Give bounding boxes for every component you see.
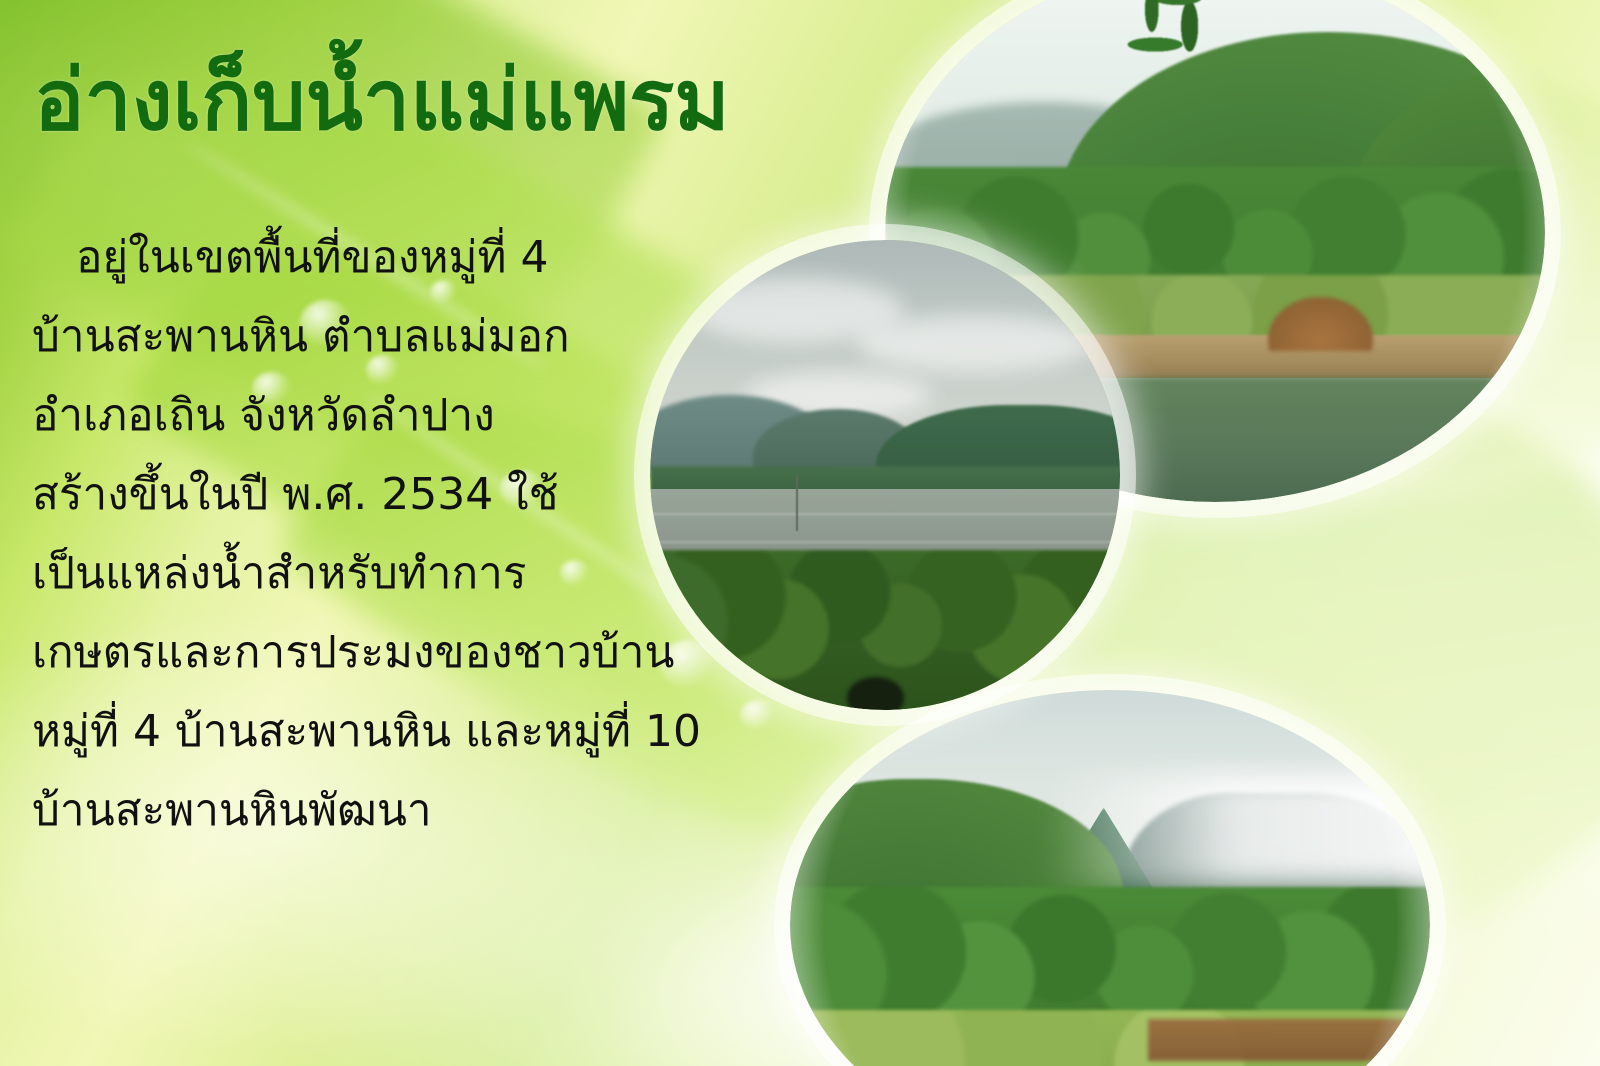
- slide-title: อ่างเก็บน้ำแม่แพรม: [34, 58, 730, 142]
- cloud-2: [857, 315, 1092, 371]
- presentation-slide: อ่างเก็บน้ำแม่แพรม อยู่ในเขตพื้นที่ของหม…: [0, 0, 1600, 1066]
- body-line-6: เกษตรและการประมงของชาวบ้าน: [32, 613, 852, 692]
- body-line-7: หมู่ที่ 4 บ้านสะพานหิน และหมู่ที่ 10: [32, 692, 852, 771]
- body-line-1: อยู่ในเขตพื้นที่ของหมู่ที่ 4: [32, 218, 852, 297]
- body-line-8: บ้านสะพานหินพัฒนา: [32, 771, 852, 850]
- body-line-5: เป็นแหล่งน้ำสำหรับทำการ: [32, 534, 852, 613]
- body-line-4: สร้างขึ้นในปี พ.ศ. 2534 ใช้: [32, 455, 852, 534]
- photo-bottom-right-scene: [790, 690, 1430, 1066]
- photo-bottom-right: [790, 690, 1430, 1066]
- forest-canopy: [790, 887, 1430, 1028]
- slide-body-text: อยู่ในเขตพื้นที่ของหมู่ที่ 4 บ้านสะพานหิ…: [32, 218, 852, 850]
- body-line-3: อำเภอเถิน จังหวัดลำปาง: [32, 376, 852, 455]
- body-line-2: บ้านสะพานหิน ตำบลแม่มอก: [32, 297, 852, 376]
- mist-cloud: [1046, 775, 1430, 888]
- dark-foreground-object: [847, 677, 903, 710]
- foreground-branch: [1083, 0, 1255, 108]
- eroded-red-bank: [1148, 1019, 1430, 1061]
- dirt-mound: [1268, 297, 1374, 351]
